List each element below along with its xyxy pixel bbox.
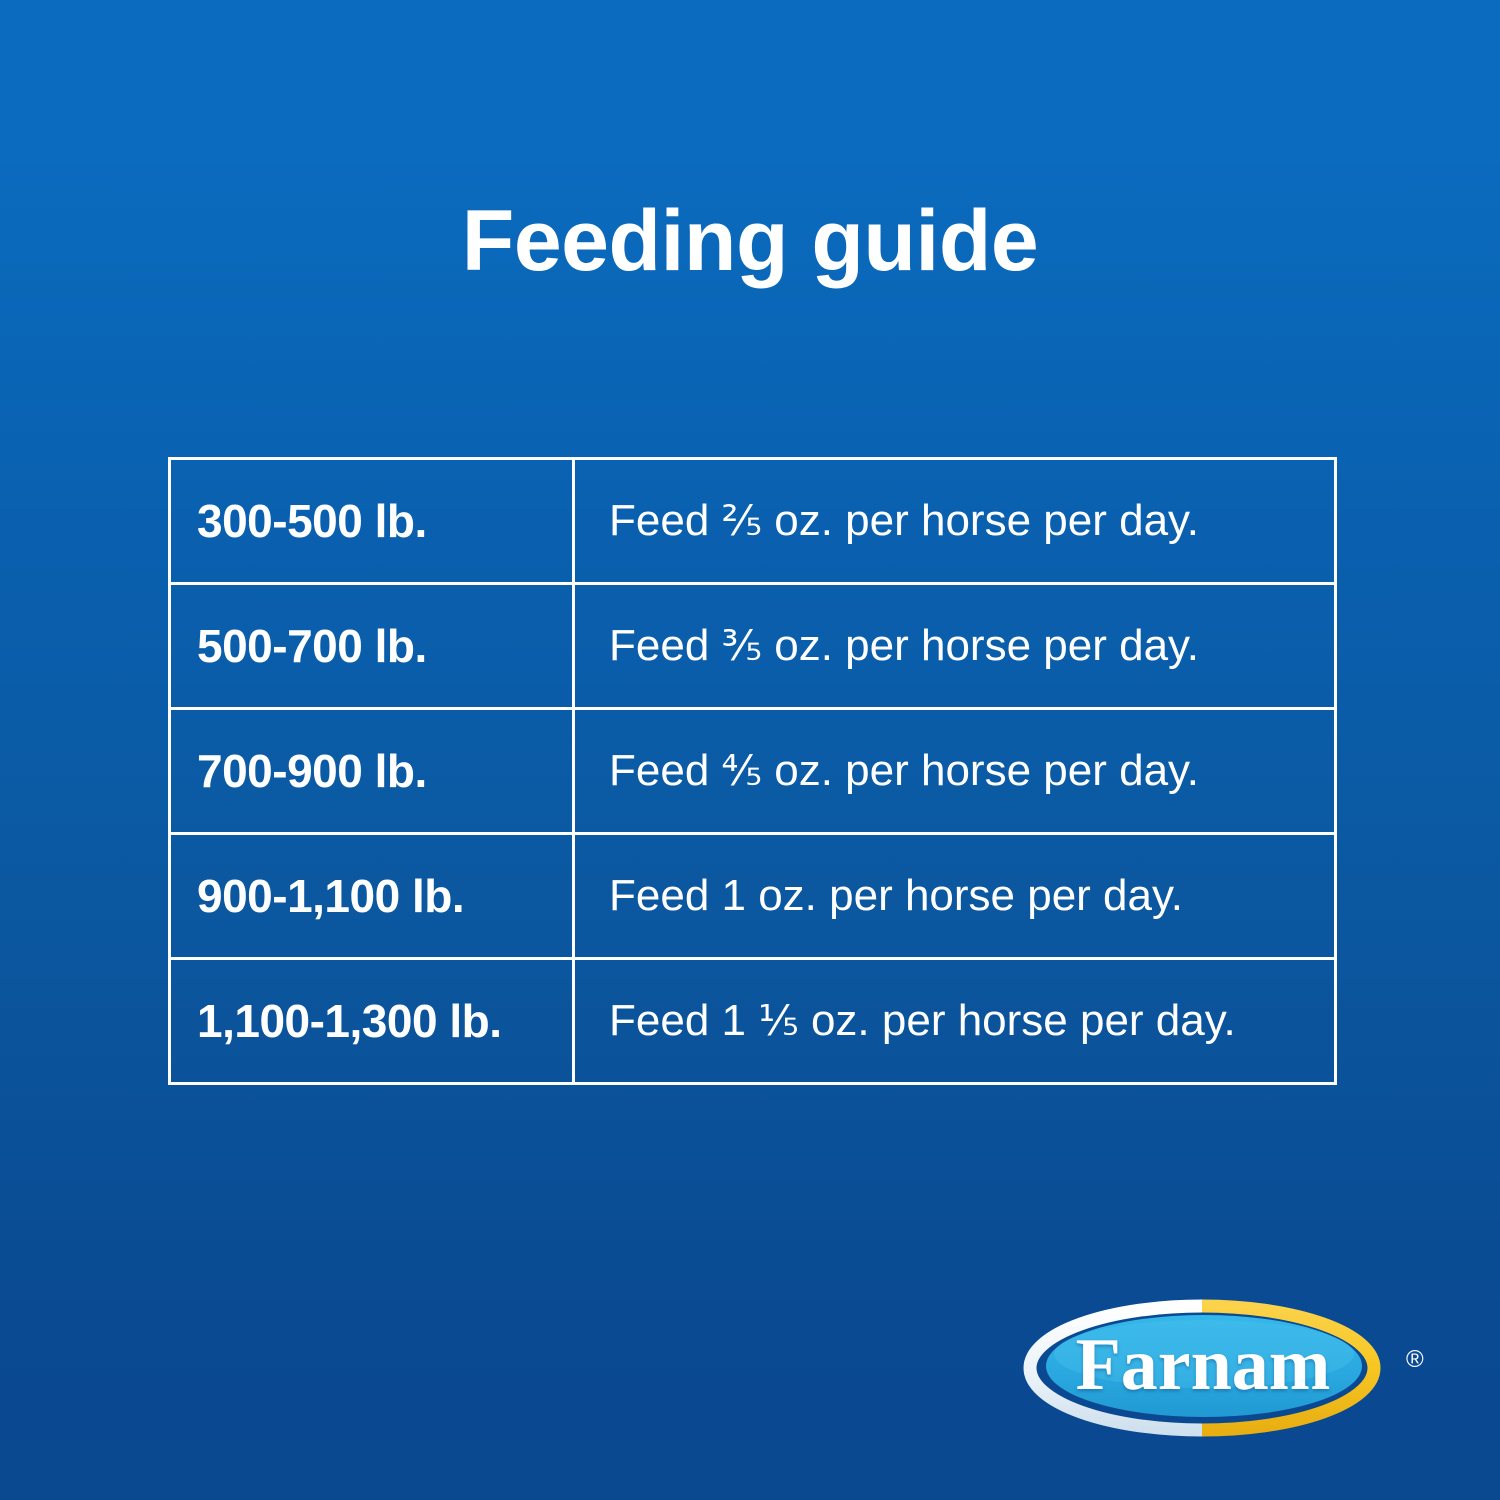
dose-prefix: Feed: [609, 621, 722, 670]
dose-suffix: oz. per horse per day.: [746, 871, 1183, 920]
dose-suffix: oz. per horse per day.: [762, 496, 1199, 545]
weight-range-cell: 1,100-1,300 lb.: [170, 959, 574, 1084]
feeding-guide-page: Feeding guide 300-500 lb. Feed ⅖ oz. per…: [0, 0, 1500, 1500]
table-row: 300-500 lb. Feed ⅖ oz. per horse per day…: [170, 459, 1336, 584]
dose-cell: Feed 1 oz. per horse per day.: [574, 834, 1336, 959]
dose-suffix: oz. per horse per day.: [762, 621, 1199, 670]
dose-fraction: ⅕: [758, 997, 799, 1044]
dose-prefix: Feed 1: [609, 871, 746, 920]
dose-cell: Feed ⅗ oz. per horse per day.: [574, 584, 1336, 709]
dose-suffix: oz. per horse per day.: [762, 746, 1199, 795]
dose-prefix: Feed 1: [609, 996, 758, 1045]
dose-fraction: ⅗: [722, 622, 763, 669]
registered-trademark-icon: ®: [1406, 1348, 1424, 1372]
dose-cell: Feed ⅘ oz. per horse per day.: [574, 709, 1336, 834]
weight-range-cell: 500-700 lb.: [170, 584, 574, 709]
dose-prefix: Feed: [609, 496, 722, 545]
table-row: 900-1,100 lb. Feed 1 oz. per horse per d…: [170, 834, 1336, 959]
table-row: 1,100-1,300 lb. Feed 1 ⅕ oz. per horse p…: [170, 959, 1336, 1084]
table-row: 700-900 lb. Feed ⅘ oz. per horse per day…: [170, 709, 1336, 834]
dose-fraction: ⅘: [722, 747, 763, 794]
dose-cell: Feed ⅖ oz. per horse per day.: [574, 459, 1336, 584]
dose-prefix: Feed: [609, 746, 722, 795]
weight-range-cell: 300-500 lb.: [170, 459, 574, 584]
farnam-logo-icon: [1002, 1292, 1442, 1442]
dose-suffix: oz. per horse per day.: [799, 996, 1236, 1045]
feeding-guide-table: 300-500 lb. Feed ⅖ oz. per horse per day…: [168, 457, 1337, 1085]
dose-fraction: ⅖: [722, 497, 763, 544]
weight-range-cell: 700-900 lb.: [170, 709, 574, 834]
farnam-logo: Farnam ®: [1002, 1292, 1442, 1442]
weight-range-cell: 900-1,100 lb.: [170, 834, 574, 959]
page-title: Feeding guide: [0, 196, 1500, 286]
table-row: 500-700 lb. Feed ⅗ oz. per horse per day…: [170, 584, 1336, 709]
dose-cell: Feed 1 ⅕ oz. per horse per day.: [574, 959, 1336, 1084]
